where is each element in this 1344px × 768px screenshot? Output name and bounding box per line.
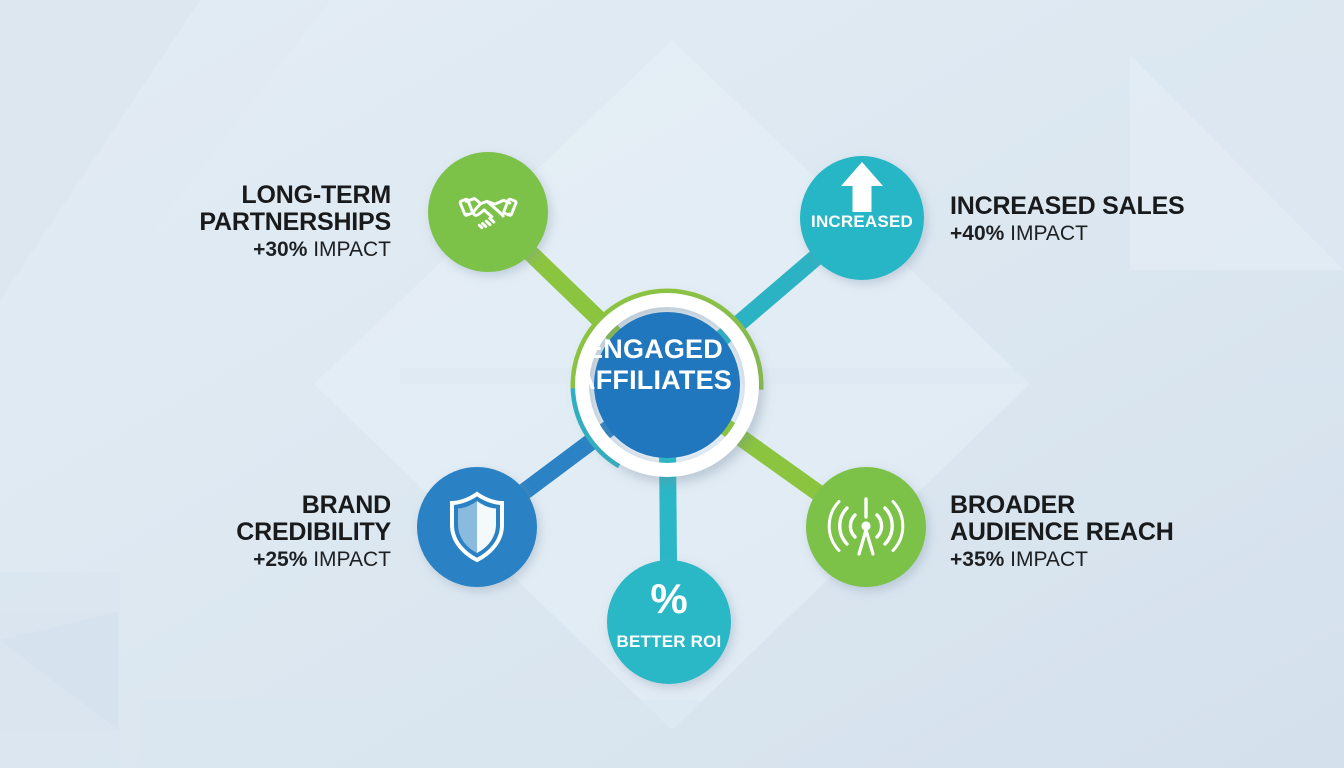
node-increased-sales[interactable] bbox=[800, 156, 924, 280]
impact-unit-increased-sales: IMPACT bbox=[1010, 222, 1088, 245]
impact-value-broader-audience-reach: +35% bbox=[950, 548, 1004, 571]
hub-disc bbox=[594, 312, 740, 458]
hub-engaged-affiliates[interactable] bbox=[575, 293, 759, 477]
node-brand-credibility[interactable] bbox=[417, 467, 537, 587]
label-brand-credibility-impact: +25% IMPACT bbox=[236, 549, 391, 572]
node-broader-audience-reach[interactable] bbox=[806, 467, 926, 587]
label-broader-audience-reach: BROADER AUDIENCE REACH +35% IMPACT bbox=[950, 492, 1174, 572]
label-long-term-partnerships-line2: PARTNERSHIPS bbox=[199, 209, 391, 236]
label-long-term-partnerships: LONG-TERM PARTNERSHIPS +30% IMPACT bbox=[199, 182, 391, 262]
label-broader-audience-reach-impact: +35% IMPACT bbox=[950, 549, 1174, 572]
node-better-roi[interactable] bbox=[607, 560, 731, 684]
label-long-term-partnerships-impact: +30% IMPACT bbox=[199, 239, 391, 262]
label-broader-audience-reach-line1: BROADER bbox=[950, 492, 1174, 519]
label-broader-audience-reach-line2: AUDIENCE REACH bbox=[950, 519, 1174, 546]
label-brand-credibility-line2: CREDIBILITY bbox=[236, 519, 391, 546]
node-long-term-partnerships[interactable] bbox=[428, 152, 548, 272]
label-increased-sales-impact: +40% IMPACT bbox=[950, 223, 1185, 246]
label-brand-credibility-line1: BRAND bbox=[236, 492, 391, 519]
impact-value-long-term-partnerships: +30% bbox=[253, 238, 307, 261]
impact-unit-broader-audience-reach: IMPACT bbox=[1010, 548, 1088, 571]
label-long-term-partnerships-line1: LONG-TERM bbox=[199, 182, 391, 209]
label-brand-credibility: BRAND CREDIBILITY +25% IMPACT bbox=[236, 492, 391, 572]
diagram-svg bbox=[0, 0, 1344, 768]
label-increased-sales: INCREASED SALES +40% IMPACT bbox=[950, 193, 1185, 246]
impact-unit-brand-credibility: IMPACT bbox=[313, 548, 391, 571]
impact-value-brand-credibility: +25% bbox=[253, 548, 307, 571]
label-increased-sales-line1: INCREASED SALES bbox=[950, 193, 1185, 220]
impact-unit-long-term-partnerships: IMPACT bbox=[313, 238, 391, 261]
infographic-canvas: ENGAGED AFFILIATES INCREASED % BETTER RO… bbox=[0, 0, 1344, 768]
impact-value-increased-sales: +40% bbox=[950, 222, 1004, 245]
